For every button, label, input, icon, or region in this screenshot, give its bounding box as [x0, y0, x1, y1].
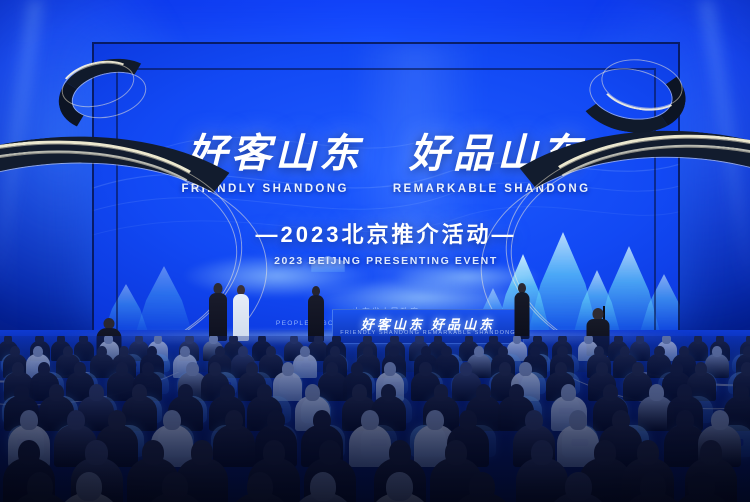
torso	[209, 293, 227, 341]
person-host-male	[208, 283, 228, 341]
person-host-female	[231, 285, 250, 341]
torso	[515, 292, 530, 339]
audience-haze	[0, 336, 750, 502]
torso	[308, 295, 324, 342]
torso	[233, 294, 249, 341]
conference-stage-photo: 好客山东 好品山东 FRIENDLY SHANDONG REMARKABLE S…	[0, 0, 750, 502]
audience-area	[0, 336, 750, 502]
person-speaker-center	[307, 286, 325, 342]
person-at-lectern	[513, 283, 531, 339]
